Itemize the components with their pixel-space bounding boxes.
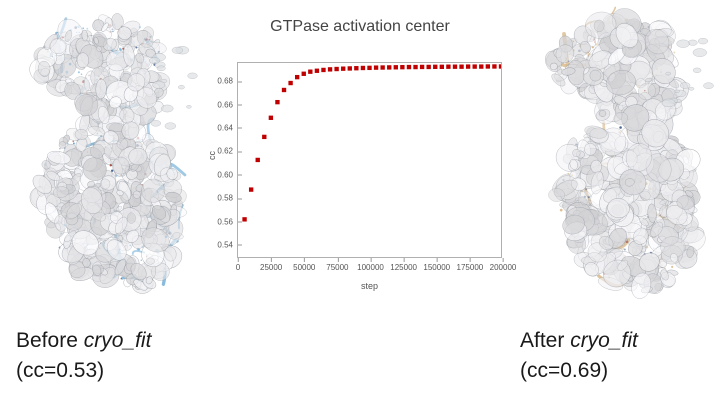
caption-after-cc: (cc=0.69) — [520, 356, 638, 386]
x-axis-tick: 200000 — [490, 263, 517, 272]
data-point — [275, 100, 279, 104]
data-point — [249, 187, 253, 191]
data-point — [269, 116, 273, 120]
atom-dot — [86, 28, 88, 30]
data-point — [321, 68, 325, 72]
atom-dot — [81, 73, 83, 75]
density-blob — [594, 20, 604, 32]
data-point — [341, 66, 345, 70]
x-axis-tick: 175000 — [457, 263, 484, 272]
density-blob-satellite — [666, 72, 671, 75]
density-blob — [59, 141, 67, 149]
density-blob-satellite — [186, 105, 191, 108]
data-point — [374, 65, 378, 69]
density-blob — [127, 213, 136, 224]
caption-before-line1: Before cryo_fit — [16, 329, 151, 352]
caption-after-emphasis: cryo_fit — [570, 329, 638, 352]
data-point — [334, 67, 338, 71]
cryo-em-map-after — [516, 0, 716, 310]
density-blob-satellite — [693, 48, 707, 56]
data-point — [308, 70, 312, 74]
data-point — [433, 65, 437, 69]
y-axis-tick: 0.62 — [217, 147, 238, 156]
data-point — [282, 88, 286, 92]
density-blob-satellite — [172, 47, 183, 54]
data-point — [466, 64, 470, 68]
data-point — [354, 66, 358, 70]
cc-vs-step-chart: GTPase activation center 0.540.560.580.6… — [204, 0, 516, 300]
density-blob-satellite — [165, 123, 176, 130]
density-blob — [77, 53, 89, 68]
data-point — [413, 65, 417, 69]
atom-dot — [72, 141, 74, 143]
chart-title: GTPase activation center — [204, 18, 516, 36]
data-point — [328, 67, 332, 71]
atom-dot — [73, 143, 75, 145]
y-axis-label: cc — [207, 151, 217, 160]
x-axis-tick: 150000 — [423, 263, 450, 272]
caption-before-cc: (cc=0.53) — [16, 356, 151, 386]
data-point — [256, 158, 260, 162]
y-axis-tick: 0.58 — [217, 194, 238, 203]
y-axis-tick: 0.56 — [217, 217, 238, 226]
y-axis-tick: 0.68 — [217, 77, 238, 86]
data-point — [499, 64, 501, 68]
data-point — [315, 69, 319, 73]
scatter-points — [238, 63, 501, 257]
data-point — [492, 64, 496, 68]
data-point — [348, 66, 352, 70]
density-blob-satellite — [188, 73, 198, 79]
caption-before-prefix: Before — [16, 329, 84, 352]
data-point — [367, 66, 371, 70]
atom-dot — [560, 209, 563, 212]
density-blob — [591, 160, 602, 173]
density-blob — [146, 258, 154, 265]
y-axis-tick: 0.60 — [217, 170, 238, 179]
data-point — [288, 81, 292, 85]
data-point — [262, 135, 266, 139]
atom-dot — [78, 71, 80, 73]
data-point — [295, 75, 299, 79]
density-blob-satellite — [662, 99, 675, 107]
atom-dot — [619, 126, 622, 129]
density-blob-satellite — [677, 40, 690, 48]
data-point — [394, 65, 398, 69]
data-point — [407, 65, 411, 69]
data-point — [486, 64, 490, 68]
x-axis-tick: 0 — [236, 263, 240, 272]
x-axis-tick: 50000 — [293, 263, 315, 272]
atom-dot — [673, 52, 675, 54]
data-point — [380, 65, 384, 69]
y-axis-tick: 0.66 — [217, 100, 238, 109]
plot-area: 0.540.560.580.600.620.640.660.6802500050… — [237, 62, 502, 258]
data-point — [420, 65, 424, 69]
cryo-em-map-before — [0, 0, 200, 310]
x-axis-tick: 25000 — [260, 263, 282, 272]
density-blob-satellite — [703, 83, 713, 89]
density-blob-satellite — [693, 68, 701, 73]
data-point — [479, 64, 483, 68]
y-axis-tick: 0.54 — [217, 240, 238, 249]
atom-dot — [141, 260, 142, 261]
data-point — [387, 65, 391, 69]
y-axis-tick: 0.64 — [217, 123, 238, 132]
atom-dot — [671, 266, 673, 268]
atom-dot — [82, 27, 84, 29]
molecular-structure-after-svg — [516, 0, 716, 310]
data-point — [426, 65, 430, 69]
atom-dot — [59, 148, 60, 149]
density-blob-satellite — [698, 38, 708, 44]
density-map-surface — [543, 3, 714, 301]
density-blob-satellite — [178, 85, 184, 89]
x-axis-tick: 100000 — [357, 263, 384, 272]
caption-after: After cryo_fit (cc=0.69) — [520, 326, 638, 386]
molecular-structure-before-svg — [0, 0, 200, 310]
data-point — [440, 65, 444, 69]
x-axis-label: step — [237, 281, 502, 291]
density-blob-satellite — [151, 120, 161, 126]
data-point — [361, 66, 365, 70]
density-blob-satellite — [153, 81, 165, 88]
density-blob-satellite — [157, 66, 165, 71]
density-blob-satellite — [680, 83, 690, 89]
density-map-surface — [25, 12, 197, 295]
density-blob-satellite — [675, 90, 680, 93]
density-blob-satellite — [689, 87, 694, 90]
data-point — [400, 65, 404, 69]
x-axis-tick: 75000 — [326, 263, 348, 272]
data-point — [473, 64, 477, 68]
data-point — [446, 65, 450, 69]
density-blob-satellite — [161, 105, 173, 112]
x-axis-tick: 125000 — [390, 263, 417, 272]
data-point — [453, 65, 457, 69]
caption-before-emphasis: cryo_fit — [84, 329, 152, 352]
data-point — [302, 72, 306, 76]
caption-after-prefix: After — [520, 329, 570, 352]
data-point — [459, 65, 463, 69]
data-point — [242, 217, 246, 221]
density-blob-satellite — [149, 57, 159, 63]
atom-dot — [121, 278, 122, 279]
caption-before: Before cryo_fit (cc=0.53) — [16, 326, 151, 386]
atom-dot — [624, 248, 626, 250]
caption-after-line1: After cryo_fit — [520, 329, 638, 352]
